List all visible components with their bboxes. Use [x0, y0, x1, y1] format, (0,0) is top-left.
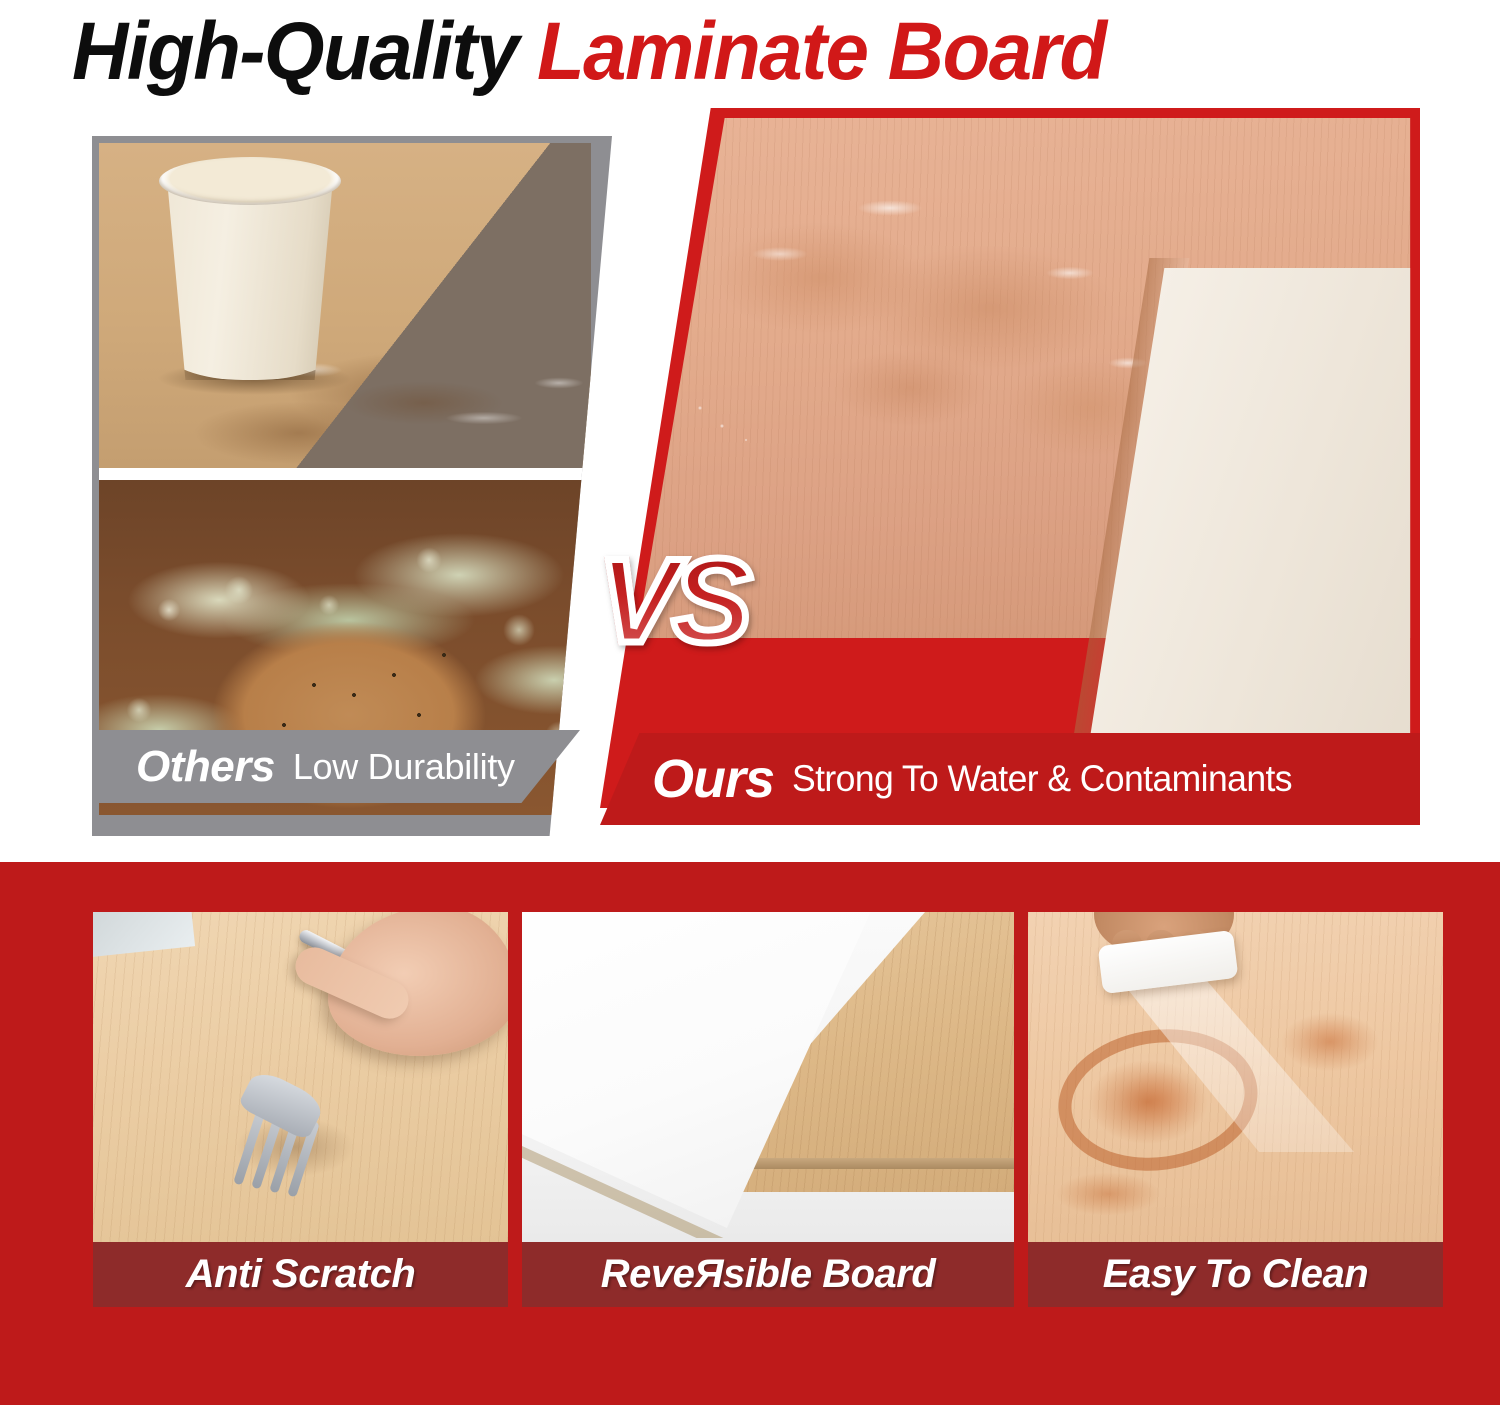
ours-caption: Strong To Water & Contaminants	[792, 758, 1292, 800]
vs-badge: VS	[598, 532, 746, 670]
paper-cup-rim	[159, 157, 341, 205]
ours-caption-bar: Ours Strong To Water & Contaminants	[600, 733, 1420, 825]
easy-to-clean-photo	[1028, 912, 1443, 1242]
others-caption-bar: Others Low Durability	[92, 730, 580, 803]
feature-label-reversible-board: ReveЯsible Board	[522, 1242, 1014, 1307]
ours-label: Ours	[652, 748, 774, 810]
page-title-part-2: Laminate Board	[537, 5, 1106, 99]
feature-card-easy-to-clean: Easy To Clean	[1028, 912, 1443, 1307]
features-row: Anti Scratch ReveЯsible Board	[93, 912, 1443, 1307]
others-caption: Low Durability	[293, 746, 515, 788]
others-photo-stack	[99, 143, 591, 815]
ours-photo	[600, 118, 1420, 798]
spilled-drink-photo	[99, 143, 591, 468]
photo-divider	[99, 468, 591, 480]
feature-card-reversible-board: ReveЯsible Board	[522, 912, 1014, 1307]
comparison-section: Others Low Durability Ours Strong To Wat…	[0, 108, 1500, 848]
page-title: High-Quality Laminate Board	[72, 6, 1383, 98]
features-section: Anti Scratch ReveЯsible Board	[0, 862, 1500, 1405]
product-feature-infographic: High-Quality Laminate Board	[0, 0, 1500, 1405]
ours-panel	[600, 108, 1420, 808]
others-label: Others	[136, 742, 275, 792]
feature-label-easy-to-clean: Easy To Clean	[1028, 1242, 1443, 1307]
feature-label-anti-scratch: Anti Scratch	[93, 1242, 508, 1307]
anti-scratch-photo	[93, 912, 508, 1242]
page-title-part-1: High-Quality	[72, 5, 518, 99]
feature-card-anti-scratch: Anti Scratch	[93, 912, 508, 1307]
reversible-board-photo	[522, 912, 1014, 1242]
